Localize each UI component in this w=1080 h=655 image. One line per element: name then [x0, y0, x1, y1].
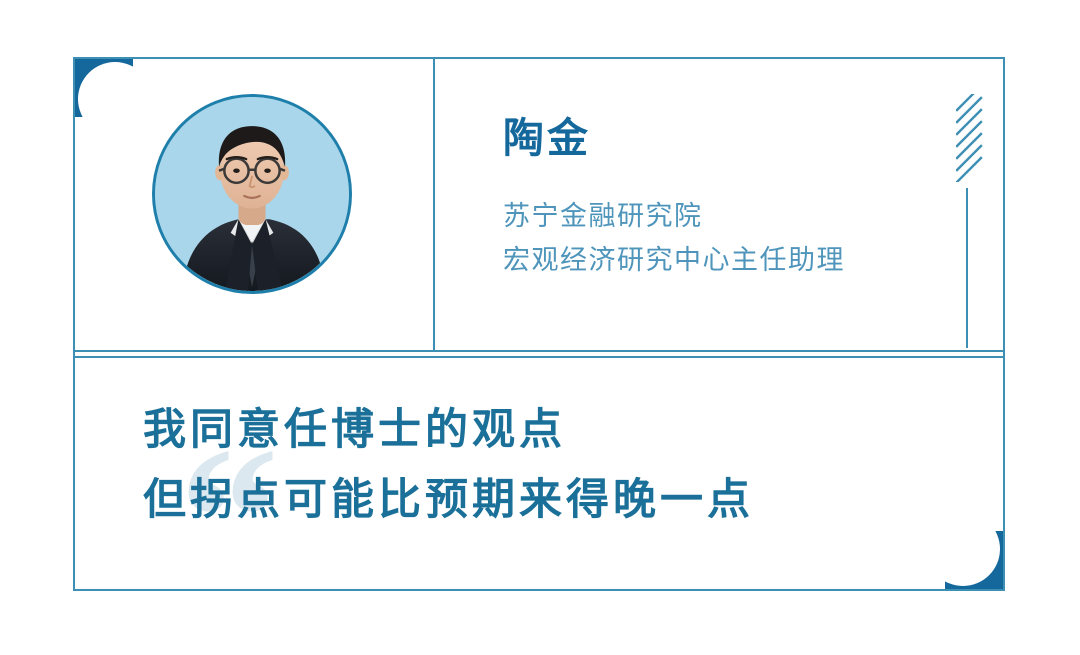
quote-text: 我同意任博士的观点 但拐点可能比预期来得晚一点: [143, 396, 754, 535]
identity-block: 陶金 苏宁金融研究院 宏观经济研究中心主任助理: [503, 116, 845, 283]
person-name: 陶金: [503, 116, 845, 161]
quote-line-2: 但拐点可能比预期来得晚一点: [143, 466, 754, 536]
side-vertical-rule: [966, 188, 968, 348]
quote-card-canvas: 陶金 苏宁金融研究院 宏观经济研究中心主任助理: [0, 0, 1080, 655]
quote-line-1: 我同意任博士的观点: [143, 396, 754, 466]
profile-section: 陶金 苏宁金融研究院 宏观经济研究中心主任助理: [75, 59, 1003, 350]
quote-card-frame: 陶金 苏宁金融研究院 宏观经济研究中心主任助理: [73, 57, 1005, 591]
affiliation-line-1: 苏宁金融研究院: [503, 195, 845, 239]
avatar-cell: [75, 59, 433, 350]
vertical-divider: [433, 59, 435, 350]
diagonal-hatch-icon: [956, 94, 990, 182]
affiliation-line-2: 宏观经济研究中心主任助理: [503, 239, 845, 283]
avatar-portrait-icon: [155, 97, 349, 291]
horizontal-divider-upper: [75, 350, 1003, 352]
avatar: [152, 94, 352, 294]
quote-section: “ 我同意任博士的观点 但拐点可能比预期来得晚一点: [75, 358, 1003, 591]
